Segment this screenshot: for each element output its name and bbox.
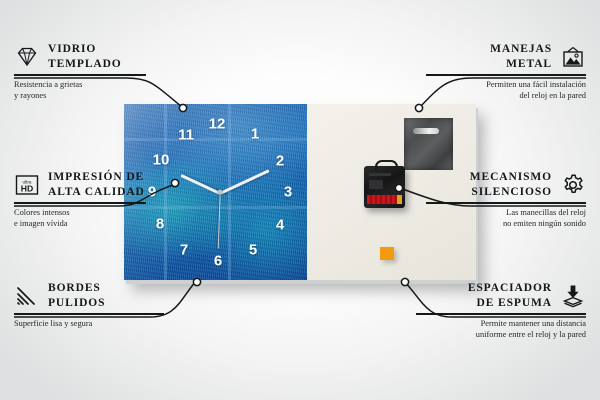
polished-edges-icon bbox=[14, 283, 40, 309]
callout-header: ESPACIADOR DE ESPUMA bbox=[416, 281, 586, 310]
gear-icon bbox=[560, 172, 586, 198]
ultra-hd-icon: ultra HD bbox=[14, 172, 40, 198]
clock-numeral-11: 11 bbox=[178, 128, 194, 143]
clock-numeral-7: 7 bbox=[180, 243, 188, 258]
callout-title: IMPRESIÓN DE ALTA CALIDAD bbox=[48, 170, 145, 199]
clock-hour-hand bbox=[180, 174, 220, 195]
face-grid-line bbox=[228, 104, 231, 280]
clock-numeral-8: 8 bbox=[156, 217, 164, 232]
callout-description: Permiten una fácil instalación del reloj… bbox=[426, 79, 586, 102]
face-grid-line bbox=[124, 138, 307, 141]
foam-spacer-icon bbox=[560, 283, 586, 309]
picture-frame-icon bbox=[560, 44, 586, 70]
callout-header: ultra HD IMPRESIÓN DE ALTA CALIDAD bbox=[14, 170, 146, 199]
callout-desc-line1: Resistencia a grietas bbox=[14, 80, 82, 89]
callout-manejas-metal: MANEJAS METAL Permiten una fácil instala… bbox=[426, 42, 586, 102]
callout-title: ESPACIADOR DE ESPUMA bbox=[468, 281, 552, 310]
callout-title-line2: ALTA CALIDAD bbox=[48, 186, 145, 198]
callout-desc-line1: Permite mantener una distancia bbox=[481, 319, 586, 328]
infographic-canvas: 12 1 2 3 4 5 6 7 8 9 10 11 bbox=[0, 0, 600, 400]
callout-rule bbox=[426, 202, 586, 203]
clock-numeral-6: 6 bbox=[214, 254, 222, 269]
clock-numeral-2: 2 bbox=[276, 154, 284, 169]
callout-rule bbox=[14, 74, 146, 75]
callout-header: MANEJAS METAL bbox=[426, 42, 586, 71]
mechanism-detail bbox=[369, 173, 391, 176]
callout-rule bbox=[426, 74, 586, 75]
callout-title-line1: VIDRIO bbox=[48, 43, 96, 55]
callout-desc-line1: Superficie lisa y segura bbox=[14, 319, 92, 328]
callout-header: BORDES PULIDOS bbox=[14, 281, 164, 310]
callout-rule bbox=[14, 313, 164, 314]
svg-text:HD: HD bbox=[21, 183, 33, 193]
clock-mechanism bbox=[364, 166, 405, 208]
callout-title: MECANISMO SILENCIOSO bbox=[470, 170, 552, 199]
face-grid-line bbox=[124, 206, 307, 209]
callout-rule bbox=[416, 313, 586, 314]
clock-minute-hand bbox=[219, 169, 269, 195]
callout-bordes-pulidos: BORDES PULIDOS Superficie lisa y segura bbox=[14, 281, 164, 329]
foam-spacer bbox=[380, 247, 394, 260]
clock-numeral-10: 10 bbox=[153, 153, 170, 168]
face-grid-line bbox=[164, 104, 167, 280]
callout-description: Superficie lisa y segura bbox=[14, 318, 164, 329]
hanger-slot bbox=[413, 128, 439, 134]
callout-title-line2: METAL bbox=[506, 58, 552, 70]
callout-desc-line1: Colores intensos bbox=[14, 208, 70, 217]
clock-numeral-12: 12 bbox=[209, 117, 226, 132]
callout-vidrio-templado: VIDRIO TEMPLADO Resistencia a grietas y … bbox=[14, 42, 146, 102]
callout-espaciador-espuma: ESPACIADOR DE ESPUMA Permite mantener un… bbox=[416, 281, 586, 341]
callout-desc-line1: Permiten una fácil instalación bbox=[486, 80, 586, 89]
callout-description: Resistencia a grietas y rayones bbox=[14, 79, 146, 102]
diamond-icon bbox=[14, 44, 40, 70]
callout-desc-line2: del reloj en la pared bbox=[519, 91, 586, 100]
callout-title-line1: MECANISMO bbox=[470, 171, 552, 183]
callout-desc-line2: no emiten ningún sonido bbox=[503, 219, 586, 228]
clock-numeral-4: 4 bbox=[276, 218, 284, 233]
metal-hanger-plate bbox=[404, 118, 453, 170]
callout-title-line2: PULIDOS bbox=[48, 297, 105, 309]
clock-numeral-1: 1 bbox=[251, 127, 259, 142]
callout-description: Las manecillas del reloj no emiten ningú… bbox=[426, 207, 586, 230]
clock-second-hand bbox=[217, 193, 220, 249]
callout-title: VIDRIO TEMPLADO bbox=[48, 42, 122, 71]
battery-terminal bbox=[397, 195, 402, 204]
callout-title-line2: SILENCIOSO bbox=[471, 186, 552, 198]
mechanism-detail bbox=[369, 180, 383, 189]
callout-title: BORDES PULIDOS bbox=[48, 281, 105, 310]
callout-description: Permite mantener una distancia uniforme … bbox=[416, 318, 586, 341]
callout-title-line1: MANEJAS bbox=[490, 43, 552, 55]
mechanism-hook bbox=[375, 160, 398, 171]
callout-description: Colores intensos e imagen vívida bbox=[14, 207, 146, 230]
callout-desc-line2: uniforme entre el reloj y la pared bbox=[476, 330, 586, 339]
callout-desc-line1: Las manecillas del reloj bbox=[506, 208, 586, 217]
clock-numeral-3: 3 bbox=[284, 185, 292, 200]
callout-mecanismo-silencioso: MECANISMO SILENCIOSO Las manecillas del … bbox=[426, 170, 586, 230]
clock-hub bbox=[218, 190, 223, 195]
product-image: 12 1 2 3 4 5 6 7 8 9 10 11 bbox=[124, 104, 476, 280]
callout-desc-line2: y rayones bbox=[14, 91, 46, 100]
callout-desc-line2: e imagen vívida bbox=[14, 219, 68, 228]
clock-face: 12 1 2 3 4 5 6 7 8 9 10 11 bbox=[124, 104, 307, 280]
callout-title-line1: BORDES bbox=[48, 282, 101, 294]
callout-title-line2: DE ESPUMA bbox=[476, 297, 552, 309]
clock-numeral-5: 5 bbox=[249, 243, 257, 258]
callout-impresion-alta-calidad: ultra HD IMPRESIÓN DE ALTA CALIDAD Color… bbox=[14, 170, 146, 230]
callout-header: MECANISMO SILENCIOSO bbox=[426, 170, 586, 199]
callout-rule bbox=[14, 202, 146, 203]
callout-title-line1: ESPACIADOR bbox=[468, 282, 552, 294]
clock-numeral-9: 9 bbox=[148, 185, 156, 200]
callout-title: MANEJAS METAL bbox=[490, 42, 552, 71]
callout-title-line2: TEMPLADO bbox=[48, 58, 122, 70]
callout-title-line1: IMPRESIÓN DE bbox=[48, 171, 144, 183]
callout-header: VIDRIO TEMPLADO bbox=[14, 42, 146, 71]
